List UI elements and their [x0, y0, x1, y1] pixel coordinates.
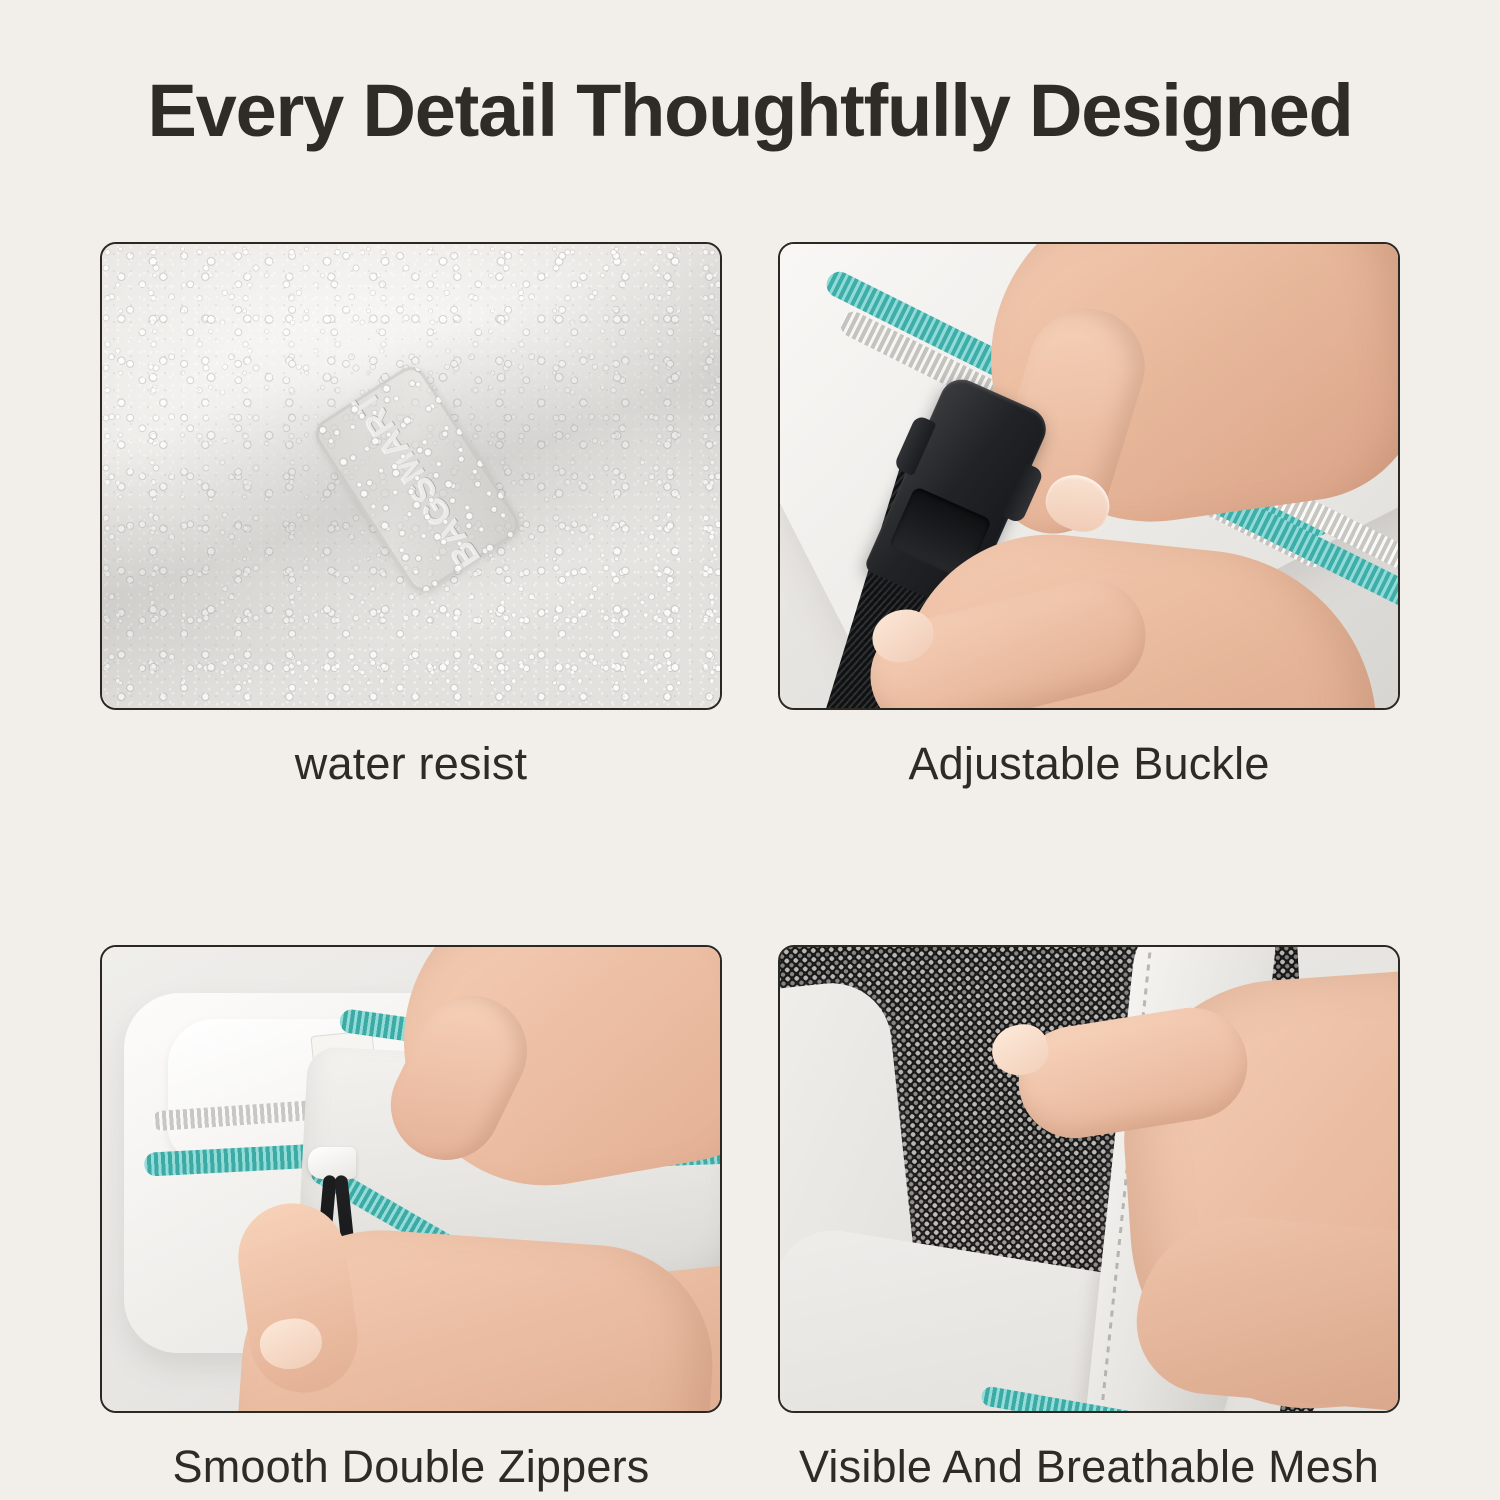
feature-image-smooth-double-zippers[interactable] — [100, 945, 722, 1413]
feature-caption-smooth-double-zippers: Smooth Double Zippers — [100, 1441, 722, 1493]
feature-image-water-resist[interactable]: BAGSMART — [100, 242, 722, 710]
feature-cell-visible-breathable-mesh: Visible And Breathable Mesh — [778, 945, 1400, 1493]
feature-cell-adjustable-buckle: BAG Adjustable Buckle — [778, 242, 1400, 790]
feature-cell-water-resist: BAGSMART water resist — [100, 242, 722, 790]
feature-caption-adjustable-buckle: Adjustable Buckle — [778, 738, 1400, 790]
page-title: Every Detail Thoughtfully Designed — [0, 74, 1500, 148]
feature-grid: BAGSMART water resist BAG — [100, 242, 1400, 1493]
feature-image-adjustable-buckle[interactable]: BAG — [778, 242, 1400, 710]
feature-cell-smooth-double-zippers: Smooth Double Zippers — [100, 945, 722, 1493]
feature-infographic: Every Detail Thoughtfully Designed BAGSM… — [0, 0, 1500, 1500]
feature-caption-water-resist: water resist — [100, 738, 722, 790]
zipper-slider — [308, 1147, 356, 1179]
feature-caption-visible-breathable-mesh: Visible And Breathable Mesh — [778, 1441, 1400, 1493]
feature-image-visible-breathable-mesh[interactable] — [778, 945, 1400, 1413]
